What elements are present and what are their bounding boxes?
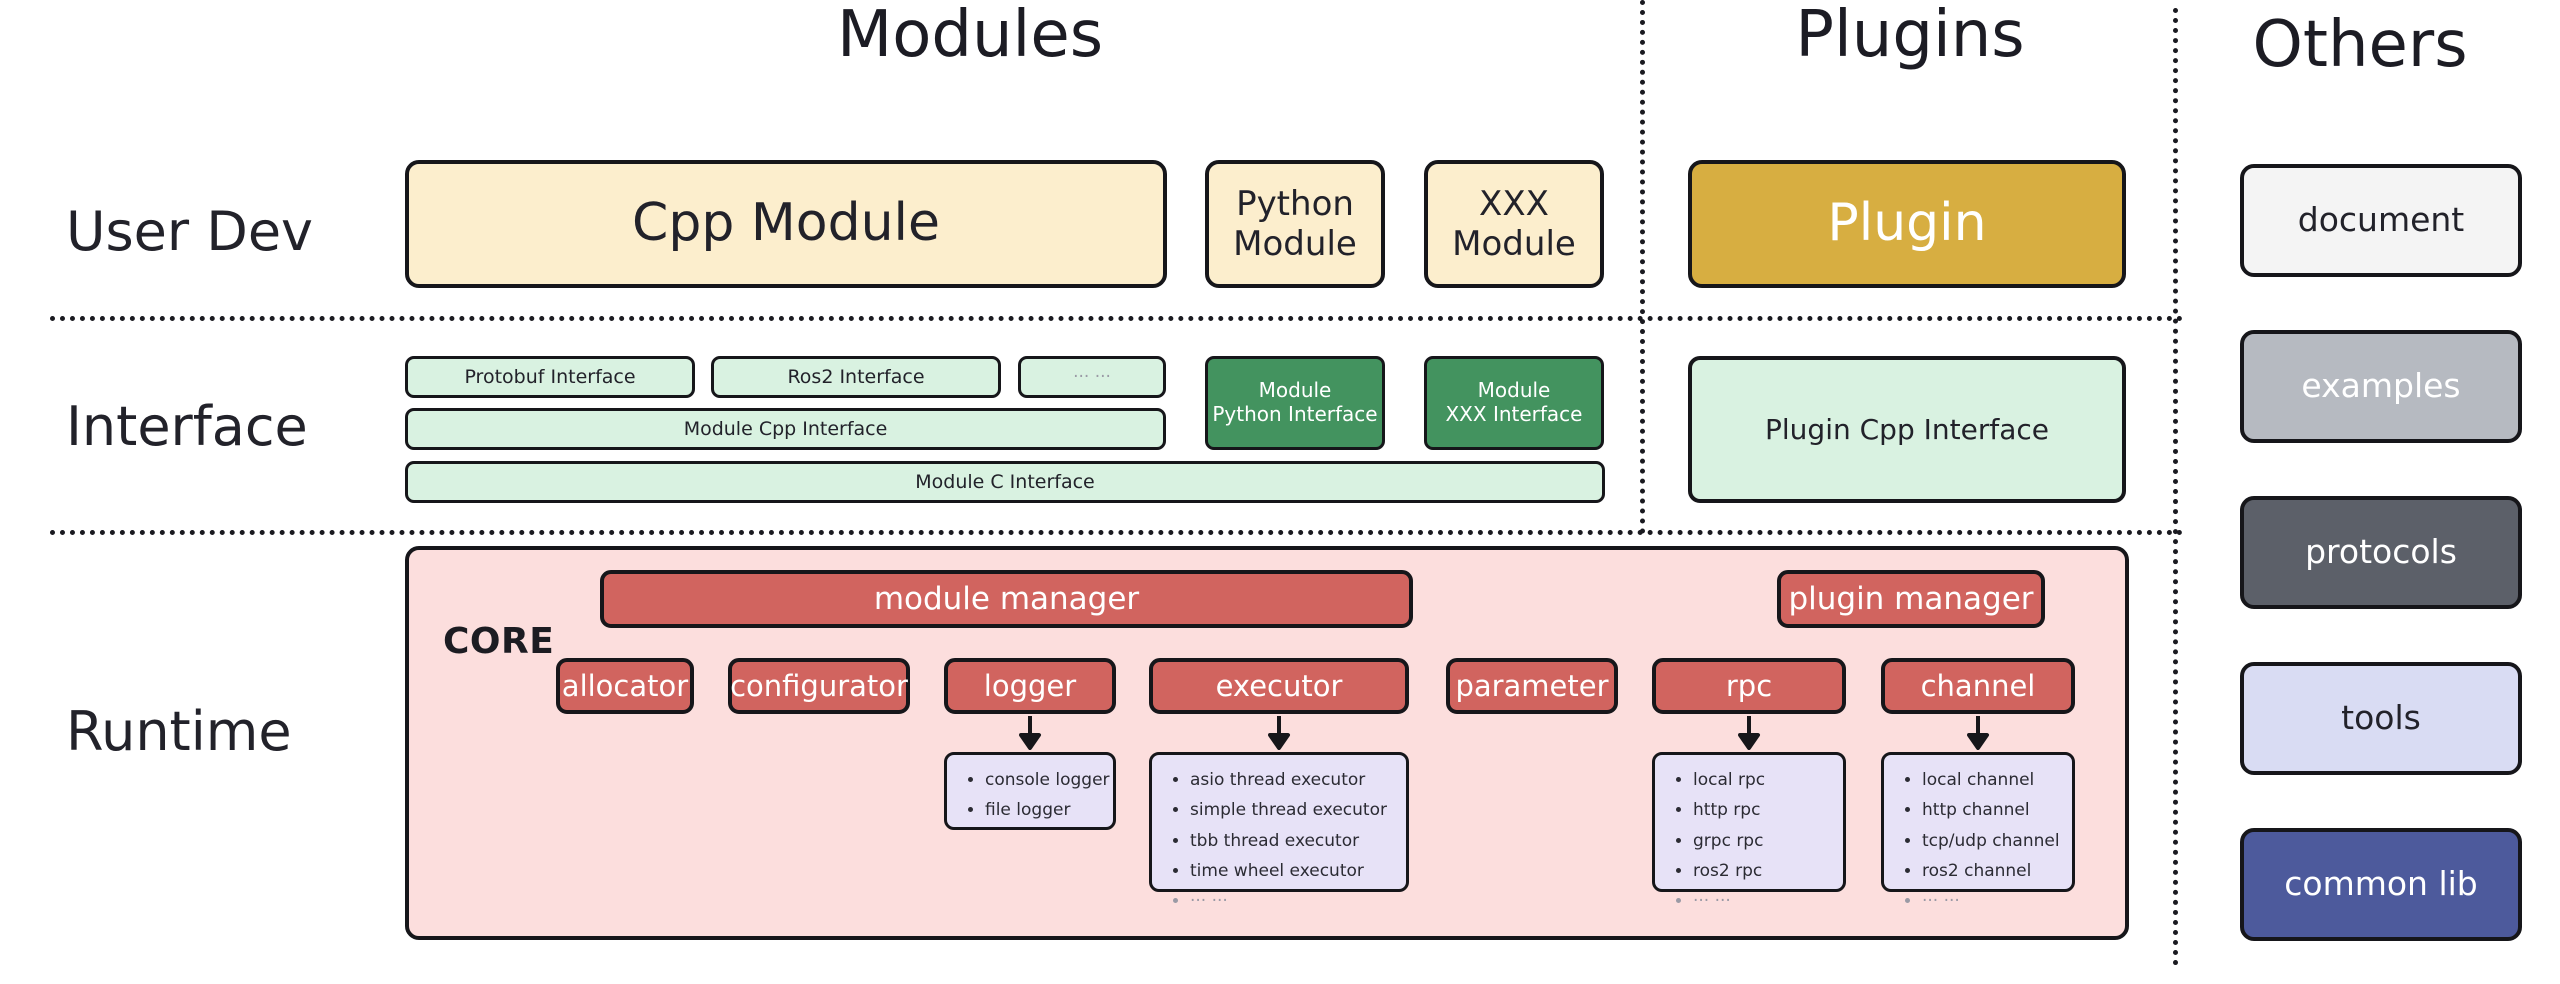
list-item: grpc rpc [1693,826,1831,856]
logger-details-box: console logger file logger [944,752,1116,830]
xxx-module-box[interactable]: XXX Module [1424,160,1604,288]
logger-arrow-icon [1017,716,1043,750]
ros2-interface-box[interactable]: Ros2 Interface [711,356,1001,398]
module-cpp-interface-box[interactable]: Module Cpp Interface [405,408,1166,450]
others-item-common-lib[interactable]: common lib [2240,828,2522,941]
channel-arrow-icon [1965,716,1991,750]
divider-interface-runtime [50,530,2184,535]
configurator-box[interactable]: configurator [728,658,910,714]
row-label-runtime: Runtime [66,700,292,763]
list-item: asio thread executor [1190,765,1394,795]
column-header-plugins: Plugins [1660,0,2160,72]
more-interface-box[interactable]: ··· ··· [1018,356,1166,398]
list-item: ··· ··· [1922,886,2060,916]
list-item: local rpc [1693,765,1831,795]
python-module-box[interactable]: Python Module [1205,160,1385,288]
row-label-interface: Interface [66,395,308,458]
column-header-modules: Modules [700,0,1240,72]
module-c-interface-box[interactable]: Module C Interface [405,461,1605,503]
executor-details-box: asio thread executor simple thread execu… [1149,752,1409,892]
module-python-interface-box[interactable]: Module Python Interface [1205,356,1385,450]
list-item: console logger [985,765,1101,795]
executor-box[interactable]: executor [1149,658,1409,714]
channel-box[interactable]: channel [1881,658,2075,714]
list-item: http rpc [1693,795,1831,825]
rpc-box[interactable]: rpc [1652,658,1846,714]
architecture-diagram: Modules Plugins Others User Dev Interfac… [0,0,2560,984]
channel-details-box: local channel http channel tcp/udp chann… [1881,752,2075,892]
allocator-box[interactable]: allocator [556,658,694,714]
row-label-user-dev: User Dev [66,200,313,263]
logger-box[interactable]: logger [944,658,1116,714]
list-item: http channel [1922,795,2060,825]
list-item: file logger [985,795,1101,825]
rpc-arrow-icon [1736,716,1762,750]
parameter-box[interactable]: parameter [1446,658,1618,714]
executor-arrow-icon [1266,716,1292,750]
rpc-details-box: local rpc http rpc grpc rpc ros2 rpc ···… [1652,752,1846,892]
list-item: ··· ··· [1693,886,1831,916]
plugin-cpp-interface-box[interactable]: Plugin Cpp Interface [1688,356,2126,503]
plugin-manager-box[interactable]: plugin manager [1777,570,2045,628]
others-item-tools[interactable]: tools [2240,662,2522,775]
list-item: ··· ··· [1190,886,1394,916]
list-item: local channel [1922,765,2060,795]
plugin-box[interactable]: Plugin [1688,160,2126,288]
others-item-document[interactable]: document [2240,164,2522,277]
divider-plugins-others [2173,8,2178,966]
list-item: ros2 channel [1922,856,2060,886]
divider-userdev-interface [50,316,2184,321]
core-label: CORE [443,621,554,662]
others-item-examples[interactable]: examples [2240,330,2522,443]
module-xxx-interface-box[interactable]: Module XXX Interface [1424,356,1604,450]
list-item: ros2 rpc [1693,856,1831,886]
module-manager-box[interactable]: module manager [600,570,1413,628]
list-item: tbb thread executor [1190,826,1394,856]
others-item-protocols[interactable]: protocols [2240,496,2522,609]
list-item: simple thread executor [1190,795,1394,825]
protobuf-interface-box[interactable]: Protobuf Interface [405,356,695,398]
list-item: tcp/udp channel [1922,826,2060,856]
list-item: time wheel executor [1190,856,1394,886]
cpp-module-box[interactable]: Cpp Module [405,160,1167,288]
divider-modules-plugins [1640,0,1645,534]
column-header-others: Others [2190,8,2530,82]
